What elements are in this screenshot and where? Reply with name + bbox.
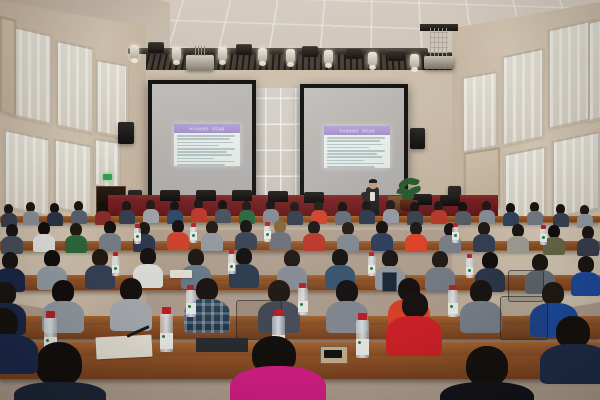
spotlight-icon-1 — [130, 45, 139, 60]
left-screen: 学术报告题目 · 研究进展 — [148, 80, 256, 205]
right-slide: 学术报告题目 · 研究进展 — [324, 126, 390, 168]
left-slide-title-bar: 学术报告题目 · 研究进展 — [174, 124, 240, 133]
desk-row-front-top — [0, 342, 600, 356]
water-bottle — [466, 258, 474, 278]
wall-panel-left-7 — [94, 138, 120, 190]
spotlight-icon-5 — [286, 49, 295, 64]
water-bottle — [186, 290, 196, 317]
wall-panel-right-3 — [462, 71, 498, 153]
exit-sign-icon — [103, 174, 112, 180]
projector-icon-center — [186, 55, 214, 70]
water-bottle — [160, 314, 173, 352]
water-bottle — [540, 229, 547, 245]
water-bottle — [452, 227, 459, 243]
notepad — [95, 335, 152, 360]
spotlight-icon-6 — [324, 50, 333, 65]
right-slide-title-bar: 学术报告题目 · 研究进展 — [324, 126, 390, 135]
conference-hall-photo: 学术报告题目 · 研究进展 — [0, 0, 600, 400]
laptop — [196, 338, 248, 352]
water-bottle — [134, 228, 141, 244]
right-slide-body — [324, 135, 390, 168]
smartphone-screen — [324, 350, 342, 358]
wall-panel-left-2 — [56, 40, 94, 134]
stage-light-fixture-1 — [148, 42, 164, 53]
projector-icon-right — [424, 56, 454, 69]
loudspeaker-right — [410, 128, 425, 149]
stage-light-fixture-5 — [388, 50, 404, 61]
right-screen: 学术报告题目 · 研究进展 — [300, 84, 408, 206]
notepad — [170, 270, 192, 278]
chair-back — [500, 296, 548, 340]
water-bottle — [228, 254, 236, 274]
audience-area — [0, 196, 600, 400]
spotlight-icon-2 — [172, 47, 181, 62]
spotlight-icon-7 — [368, 52, 377, 67]
left-slide: 学术报告题目 · 研究进展 — [174, 124, 240, 166]
stage-light-fixture-4 — [346, 48, 362, 59]
spotlight-icon-4 — [258, 48, 267, 63]
stage-light-fixture-2 — [236, 44, 252, 55]
loudspeaker-left — [118, 122, 134, 144]
water-bottle — [112, 256, 120, 276]
right-screen-surface: 学术报告题目 · 研究进展 — [304, 88, 404, 202]
wall-panel-right-7 — [588, 18, 600, 122]
left-slide-title-text: 学术报告题目 · 研究进展 — [189, 127, 224, 131]
right-slide-title-text: 学术报告题目 · 研究进展 — [339, 129, 374, 133]
water-bottle — [298, 288, 308, 315]
smartphone[interactable] — [382, 272, 397, 292]
left-slide-body — [174, 133, 240, 166]
left-screen-surface: 学术报告题目 · 研究进展 — [152, 84, 252, 201]
spotlight-icon-3 — [218, 47, 227, 62]
wall-panel-left-6 — [0, 16, 16, 116]
water-bottle — [448, 290, 458, 317]
projector-scissor-lift — [430, 28, 448, 58]
water-bottle — [356, 320, 369, 358]
spotlight-icon-8 — [410, 54, 419, 69]
speaker-hair — [369, 179, 377, 183]
water-bottle — [264, 226, 271, 242]
wall-panel-right-2 — [502, 48, 544, 147]
water-bottle — [368, 256, 376, 276]
water-bottle — [190, 227, 197, 243]
stage-light-fixture-3 — [302, 46, 318, 57]
